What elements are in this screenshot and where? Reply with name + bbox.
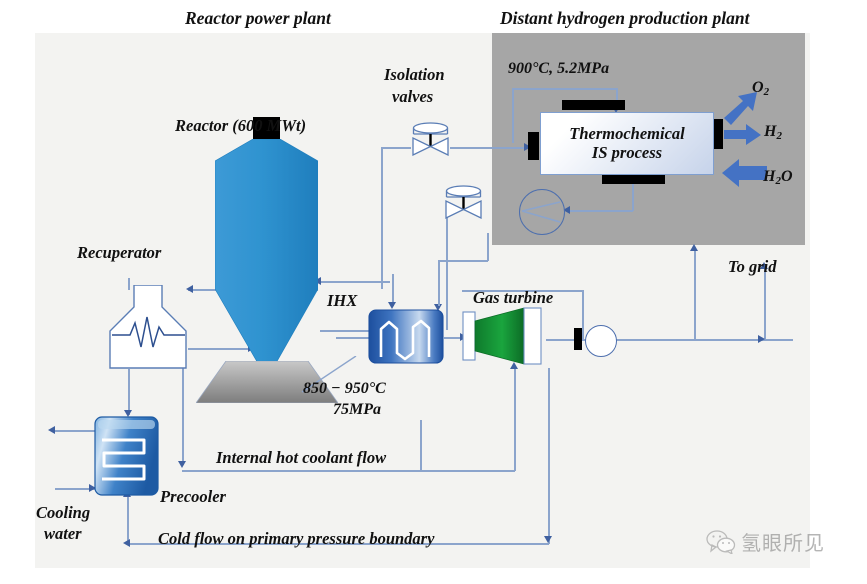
precooler-label: Precooler [160,487,226,507]
pipe-box-to-pump [568,210,633,212]
pipe-to-grid-riser-1 [694,250,696,340]
thermochemical-is-process-box: Thermochemical IS process [540,112,714,175]
pipe-coolwater-out [52,430,95,432]
isolation-valves-label-line2: valves [392,87,433,107]
figure-canvas: Reactor power plant Distant hydrogen pro… [0,0,867,584]
pipe-valve1-out [450,147,528,149]
pipe-hot-coolant-to-turbine [514,368,516,471]
cooling-water-label-line1: Cooling [36,503,90,523]
watermark: 氢眼所见 [706,527,825,556]
gas-turbine [462,305,546,367]
cold-flow-label: Cold flow on primary pressure boundary [158,529,434,549]
pipe-valve1-in [381,147,411,149]
pipe-ihx-return-to-reactor [318,281,390,283]
reactor-outlet-pressure-label: 75MPa [333,401,381,419]
hydrogen-arrow [724,124,762,151]
pipe-box-to-pump-down [632,184,634,211]
is-process-tab-bottom [602,174,665,184]
pipe-pump-to-valve2 [487,233,489,261]
pipe-valve1-riser [381,147,383,289]
pipe-hot-coolant-return-2 [420,470,515,472]
water-arrow [722,158,768,193]
pipe-hot-coolant-branch [420,420,422,470]
reactor-outlet-temp-label: 850 − 950°C [303,380,386,398]
cooling-water-label-line2: water [44,524,82,544]
ihx-label: IHX [327,291,357,311]
to-grid-label: To grid [728,257,776,277]
pipe-valve2-to-ihx [438,260,440,306]
reactor-vessel [215,139,318,379]
precooler [94,416,159,496]
arrow-cold-flow-down [544,536,552,543]
pipe-precooler-bottom-riser [127,496,129,544]
arrow-cold-flow-left [123,539,130,547]
wechat-icon [706,530,736,554]
arrow-hot-coolant-down [178,461,186,468]
generator [585,325,617,357]
pipe-reactor-to-ihx [320,330,372,332]
watermark-text: 氢眼所见 [741,527,825,556]
is-process-label-line2: IS process [569,144,684,163]
hydrogen-label: H2 [764,123,782,142]
arrow-to-grid-up-1 [690,244,698,251]
recuperator [108,285,188,369]
isolation-valves-label-line1: Isolation [384,65,445,85]
pipe-valve2-riser [446,209,448,330]
pipe-recuperator-to-precooler [128,369,130,415]
is-process-tab-top [562,100,625,110]
circulator-pump [519,189,565,235]
isolation-valve-upper[interactable] [411,120,450,161]
arrow-to-grid-right [758,335,765,343]
is-process-label-line1: Thermochemical [569,125,684,144]
isolation-valve-lower[interactable] [444,183,483,224]
left-panel-title: Reactor power plant [185,8,331,29]
pipe-cold-flow-riser [548,368,550,544]
water-label: H2O [763,168,793,187]
hot-coolant-flow-label: Internal hot coolant flow [216,448,386,468]
is-process-tab-left [528,132,539,160]
pipe-generator-to-grid [615,339,793,341]
pipe-into-ihx-left [336,337,369,339]
recuperator-label: Recuperator [77,243,161,263]
pipe-valve2-cross [438,260,488,262]
pipe-turbine-top-loop-riser [582,290,584,340]
generator-shaft [574,328,582,350]
pipe-900c-header [512,88,617,90]
ihx-heat-exchanger [368,309,444,364]
pipe-to-grid-riser-2 [764,268,766,340]
arrow-ihx-top-inlet [388,302,396,309]
h2-inlet-condition-label: 900°C, 5.2MPa [508,60,609,78]
arrow-coolwater-out [48,426,55,434]
gas-turbine-label: Gas turbine [473,288,553,308]
pipe-900c-left-down [512,88,514,143]
oxygen-label: O2 [752,79,769,98]
right-panel-title: Distant hydrogen production plant [500,8,749,29]
reactor-label: Reactor (600 MWt) [175,116,306,136]
pipe-hot-coolant-return [182,470,420,472]
